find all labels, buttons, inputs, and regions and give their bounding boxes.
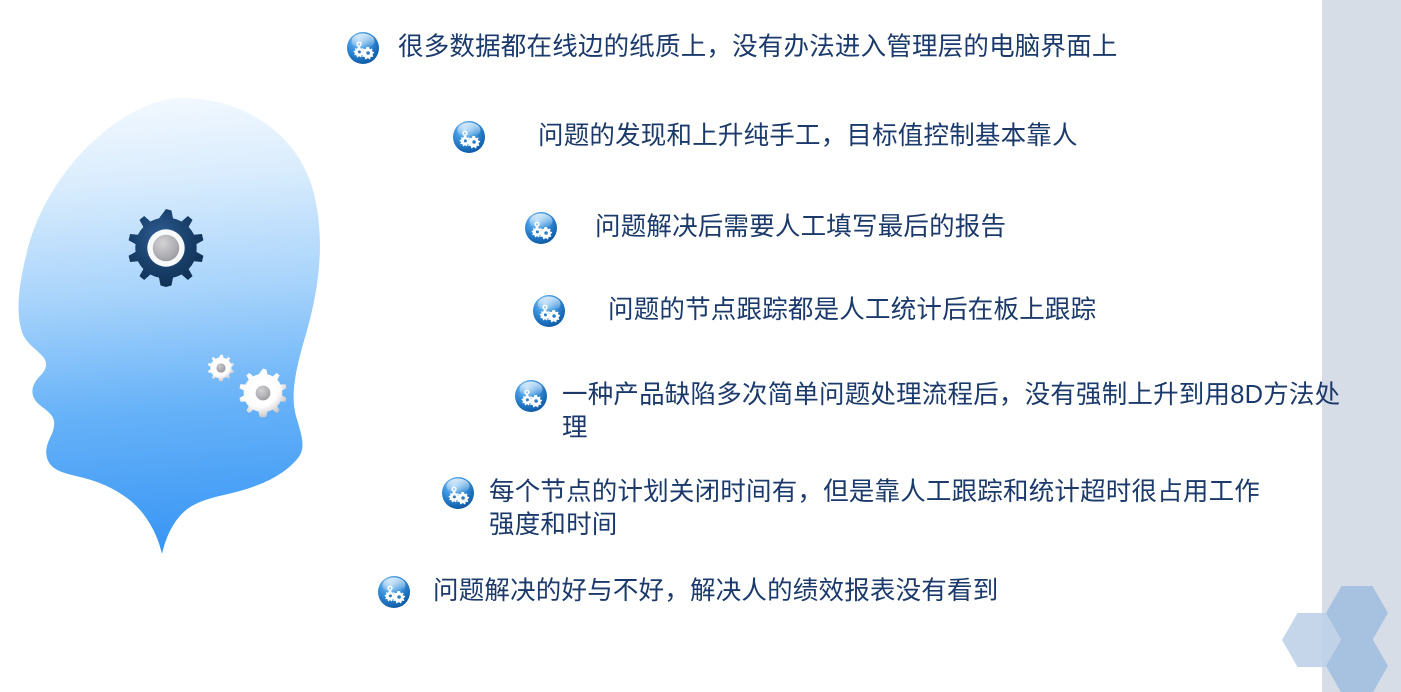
gears-bullet-icon <box>524 211 558 245</box>
bullet-row-7: 问题解决的好与不好，解决人的绩效报表没有看到 <box>377 575 998 609</box>
bullet-text: 很多数据都在线边的纸质上，没有办法进入管理层的电脑界面上 <box>398 31 1118 64</box>
bullet-text: 问题解决的好与不好，解决人的绩效报表没有看到 <box>433 575 998 608</box>
bullet-row-1: 很多数据都在线边的纸质上，没有办法进入管理层的电脑界面上 <box>346 31 1118 65</box>
bullet-row-2: 问题的发现和上升纯手工，目标值控制基本靠人 <box>452 120 1078 154</box>
bullet-row-3: 问题解决后需要人工填写最后的报告 <box>524 211 1006 245</box>
slide-canvas: 很多数据都在线边的纸质上，没有办法进入管理层的电脑界面上 问题的发现和上升纯手工… <box>0 0 1401 692</box>
bullet-text: 问题的发现和上升纯手工，目标值控制基本靠人 <box>538 120 1078 153</box>
gears-bullet-icon <box>514 379 548 413</box>
bullet-row-5: 一种产品缺陷多次简单问题处理流程后，没有强制上升到用8D方法处理 <box>514 379 1354 445</box>
gears-bullet-icon <box>532 294 566 328</box>
hexagon-decoration <box>1282 583 1401 692</box>
bullet-text: 一种产品缺陷多次简单问题处理流程后，没有强制上升到用8D方法处理 <box>562 379 1352 445</box>
gears-bullet-icon <box>452 120 486 154</box>
bullet-text: 问题解决后需要人工填写最后的报告 <box>595 211 1006 244</box>
head-silhouette <box>19 98 320 554</box>
bullet-row-4: 问题的节点跟踪都是人工统计后在板上跟踪 <box>532 294 1096 328</box>
gears-bullet-icon <box>441 476 475 510</box>
bullet-row-6: 每个节点的计划关闭时间有，但是靠人工跟踪和统计超时很占用工作强度和时间 <box>441 476 1321 542</box>
gears-bullet-icon <box>346 31 380 65</box>
bullet-text: 问题的节点跟踪都是人工统计后在板上跟踪 <box>608 294 1096 327</box>
head-with-gears-graphic <box>14 96 334 596</box>
gears-bullet-icon <box>377 575 411 609</box>
bullet-text: 每个节点的计划关闭时间有，但是靠人工跟踪和统计超时很占用工作强度和时间 <box>489 476 1279 542</box>
